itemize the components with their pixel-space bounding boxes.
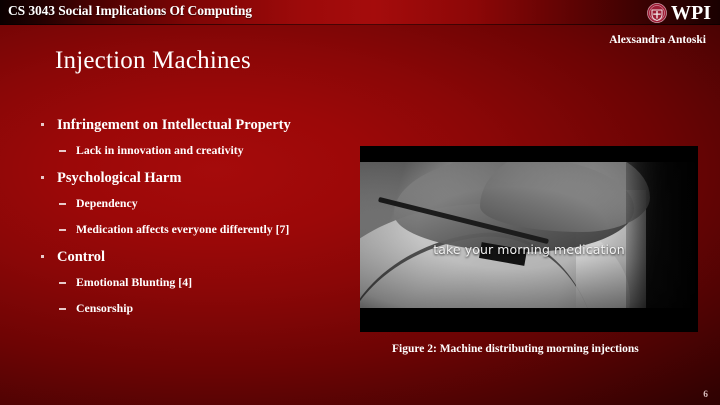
bullet-level2: Dependency bbox=[36, 196, 366, 211]
photo-content bbox=[360, 162, 698, 308]
author-name: Alexsandra Antoski bbox=[609, 34, 706, 46]
bullet-level2: Censorship bbox=[36, 301, 366, 316]
slide-header-bar: CS 3043 Social Implications Of Computing… bbox=[0, 0, 720, 25]
bullet-level2: Emotional Blunting [4] bbox=[36, 275, 366, 290]
figure-caption: Figure 2: Machine distributing morning i… bbox=[392, 342, 652, 356]
slide-title: Injection Machines bbox=[55, 47, 251, 75]
bullet-level1: Control bbox=[36, 248, 366, 266]
bullet-level1: Psychological Harm bbox=[36, 169, 366, 187]
slide-number: 6 bbox=[703, 390, 708, 400]
bullet-level2: Medication affects everyone differently … bbox=[36, 222, 366, 237]
figure-photo: take your morning medication bbox=[360, 146, 698, 332]
bullet-list: Infringement on Intellectual Property La… bbox=[36, 116, 366, 327]
presentation-slide: CS 3043 Social Implications Of Computing… bbox=[0, 0, 720, 405]
bullet-group: Psychological Harm Dependency Medication… bbox=[36, 169, 366, 237]
wpi-logo: WPI bbox=[647, 1, 711, 24]
course-title: CS 3043 Social Implications Of Computing bbox=[8, 3, 252, 19]
bullet-group: Infringement on Intellectual Property La… bbox=[36, 116, 366, 158]
bullet-level1: Infringement on Intellectual Property bbox=[36, 116, 366, 134]
photo-subtitle-text: take your morning medication bbox=[360, 242, 698, 257]
bullet-level2: Lack in innovation and creativity bbox=[36, 143, 366, 158]
figure-container: take your morning medication bbox=[360, 146, 698, 332]
wpi-seal-icon bbox=[647, 3, 667, 23]
bullet-group: Control Emotional Blunting [4] Censorshi… bbox=[36, 248, 366, 316]
photo-vignette bbox=[360, 162, 698, 308]
wpi-wordmark: WPI bbox=[671, 3, 711, 23]
